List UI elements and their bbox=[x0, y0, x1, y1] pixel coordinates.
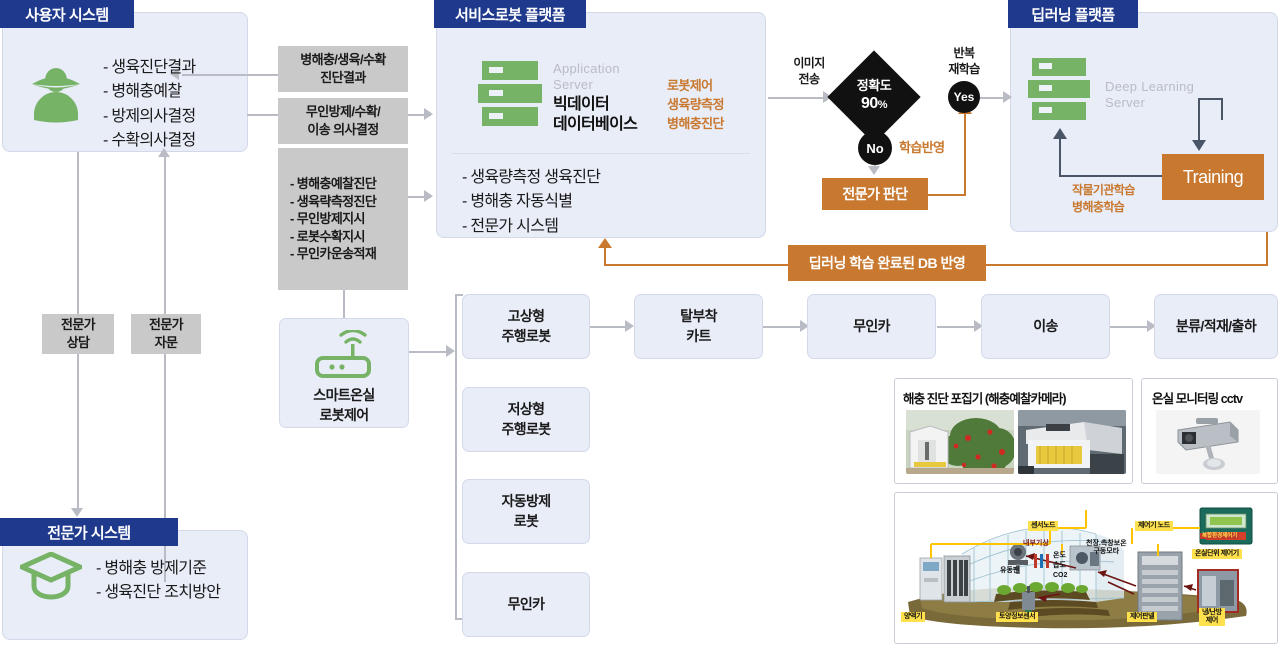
connector-expert-judge-up bbox=[964, 112, 966, 196]
deep-learning-server-icon bbox=[1028, 58, 1090, 124]
service-robot-title-text: 서비스로봇 플랫폼 bbox=[455, 4, 565, 25]
panel-title-deep-learning: 딥러닝 플랫폼 bbox=[1008, 0, 1138, 28]
arrow-down-into-training bbox=[1192, 140, 1206, 151]
grey-box-expert-advice: 전문가 자문 bbox=[131, 314, 201, 354]
logistics-box-3: 분류/적재/출하 bbox=[1154, 294, 1278, 359]
arrow-down-no-expert bbox=[868, 166, 880, 175]
connector-instructions-to-greenhouse bbox=[343, 290, 345, 318]
connector-db-reflect-up-right bbox=[1266, 232, 1268, 266]
panel-title-user-system: 사용자 시스템 bbox=[0, 0, 134, 28]
arrow-down-to-expert-system bbox=[71, 508, 83, 517]
greenhouse-label-sensor-node: 센서노드 bbox=[1028, 521, 1058, 531]
service-robot-bullets: - 생육량측정 생육진단 - 병해충 자동식별 - 전문가 시스템 bbox=[462, 166, 600, 239]
training-loop-top bbox=[1198, 98, 1223, 100]
decision-no-badge: No bbox=[858, 131, 892, 165]
learning-tags: 작물기관학습 병해충학습 bbox=[1072, 182, 1135, 216]
robot-box-3: 무인카 bbox=[462, 572, 590, 637]
panel-title-expert-system: 전문가 시스템 bbox=[0, 518, 178, 546]
accuracy-unit: % bbox=[878, 99, 887, 111]
training-loop-vert-in bbox=[1198, 98, 1200, 142]
wifi-router-icon bbox=[312, 330, 374, 378]
robot-group-bracket bbox=[455, 294, 457, 620]
greenhouse-label-humidity: 습도 bbox=[1053, 562, 1066, 570]
application-server-icon bbox=[478, 61, 542, 129]
photo-card-trap-title: 해충 진단 포집기 (해충예찰카메라) bbox=[903, 388, 1129, 407]
greenhouse-label-greenhouse-controller: 온실단위 제어기 bbox=[1192, 549, 1242, 559]
arrow-right-instructions-platform bbox=[424, 190, 433, 202]
arrow-right-greenhouse-robots bbox=[446, 345, 455, 357]
greenhouse-label-soil-sensor: 토양정보센서 bbox=[996, 612, 1038, 622]
arrow-right-robot1-cart bbox=[625, 320, 634, 332]
greenhouse-label-roof-motor: 천장.측창보온 구동모타 bbox=[1086, 540, 1127, 556]
connector-car-to-transfer bbox=[937, 326, 979, 328]
diagram-canvas: 사용자 시스템 - 생육진단결과 - 병해충예찰 - 방제의사결정 - 수확의사… bbox=[0, 0, 1280, 651]
connector-advice-to-user bbox=[164, 156, 166, 316]
logistics-box-2: 이송 bbox=[981, 294, 1110, 359]
arrow-up-db-reflect bbox=[598, 238, 612, 248]
grey-box-instructions: - 병해충예찰진단 - 생육략측정진단 - 무인방제지시 - 로봇수확지시 - … bbox=[278, 148, 408, 290]
connector-robot1-to-cart bbox=[590, 326, 630, 328]
logistics-box-0: 탈부착 카트 bbox=[634, 294, 763, 359]
panel-title-service-robot: 서비스로봇 플랫폼 bbox=[434, 0, 586, 28]
connector-greenhouse-to-robots bbox=[408, 351, 450, 353]
robot-box-0: 고상형 주행로봇 bbox=[462, 294, 590, 359]
accuracy-number: 90 bbox=[861, 95, 878, 112]
greenhouse-label-co2: CO2 bbox=[1053, 572, 1067, 580]
connector-consult-to-expert bbox=[77, 352, 79, 510]
robot-box-1: 저상형 주행로봇 bbox=[462, 387, 590, 452]
deep-learning-server-caption: Deep Learning Server bbox=[1105, 79, 1194, 110]
training-loop-bottom bbox=[1059, 175, 1163, 177]
training-loop-vert-left bbox=[1059, 138, 1061, 177]
greenhouse-label-circulation-fan: 유동팬 bbox=[1000, 567, 1019, 575]
db-reflect-box: 딥러닝 학습 완료된 DB 반영 bbox=[788, 245, 986, 281]
image-transfer-label: 이미지 전송 bbox=[779, 56, 839, 87]
grey-box-diagnosis-result: 병해충/생육/수확 진단결과 bbox=[278, 46, 408, 92]
accuracy-label: 정확도 bbox=[841, 79, 907, 93]
arrow-up-into-dl-server bbox=[1053, 128, 1067, 139]
grey-box-decision: 무인방제/수확/ 이송 의사결정 bbox=[278, 98, 408, 144]
training-loop-vert-right bbox=[1221, 98, 1223, 120]
robot-bracket-top bbox=[455, 294, 463, 296]
greenhouse-label-temp: 온도 bbox=[1053, 552, 1066, 560]
training-box: Training bbox=[1162, 154, 1264, 200]
greenhouse-label-nutrient: 양액기 bbox=[901, 612, 925, 622]
expert-judgement-box: 전문가 판단 bbox=[822, 178, 928, 210]
expert-system-title-text: 전문가 시스템 bbox=[47, 522, 130, 543]
learning-reflect-label: 학습반영 bbox=[899, 139, 944, 157]
connector-transfer-to-sort bbox=[1110, 326, 1152, 328]
greenhouse-label-device-tag: 복합환경제어기 bbox=[1200, 533, 1239, 539]
retrain-label: 반복 재학습 bbox=[934, 46, 994, 77]
greenhouse-label-controller-node: 제어기 노드 bbox=[1135, 521, 1173, 531]
connector-user-to-decision bbox=[247, 114, 279, 116]
smart-greenhouse-label: 스마트온실 로봇제어 bbox=[279, 385, 409, 426]
photo-trap-field bbox=[906, 410, 1014, 474]
application-server-caption: Application Server bbox=[553, 61, 620, 92]
user-system-title-text: 사용자 시스템 bbox=[25, 4, 108, 25]
accuracy-value: 90% bbox=[841, 95, 907, 113]
farmer-icon bbox=[28, 62, 84, 124]
graduation-cap-icon bbox=[20, 552, 82, 600]
connector-expert-to-advice bbox=[164, 352, 166, 582]
robot-control-tags: 로봇제어 생육량측정 병해충진단 bbox=[667, 77, 724, 134]
photo-cctv-camera bbox=[1156, 410, 1260, 474]
connector-user-to-consult bbox=[77, 152, 79, 316]
photo-trap-device bbox=[1018, 410, 1126, 474]
photo-card-cctv-title: 온실 모니터링 cctv bbox=[1152, 388, 1272, 407]
expert-system-bullets: - 병해충 방제기준 - 생육진단 조치방안 bbox=[96, 557, 220, 606]
decision-yes-badge: Yes bbox=[948, 81, 980, 113]
arrow-right-yes-dl bbox=[1003, 91, 1012, 103]
connector-diag-to-user bbox=[182, 74, 278, 76]
service-robot-divider bbox=[452, 153, 750, 154]
deep-learning-title-text: 딥러닝 플랫폼 bbox=[1031, 4, 1114, 25]
user-system-bullets: - 생육진단결과 - 병해충예찰 - 방제의사결정 - 수확의사결정 bbox=[103, 56, 196, 153]
bigdata-db-label: 빅데이터 데이터베이스 bbox=[553, 95, 637, 135]
greenhouse-label-hvac: 냉/난방 제어 bbox=[1199, 608, 1225, 626]
greenhouse-label-internal-weather: 내부기상 bbox=[1023, 540, 1049, 548]
grey-box-expert-consult: 전문가 상담 bbox=[42, 314, 114, 354]
robot-box-2: 자동방제 로봇 bbox=[462, 479, 590, 544]
logistics-box-1: 무인카 bbox=[807, 294, 936, 359]
connector-cart-to-car bbox=[763, 326, 805, 328]
greenhouse-label-control-panel: 제어판넬 bbox=[1127, 612, 1157, 622]
connector-db-reflect-horiz-right bbox=[980, 264, 1268, 266]
connector-platform-to-diamond bbox=[768, 97, 828, 99]
arrow-right-decision-platform bbox=[424, 108, 433, 120]
